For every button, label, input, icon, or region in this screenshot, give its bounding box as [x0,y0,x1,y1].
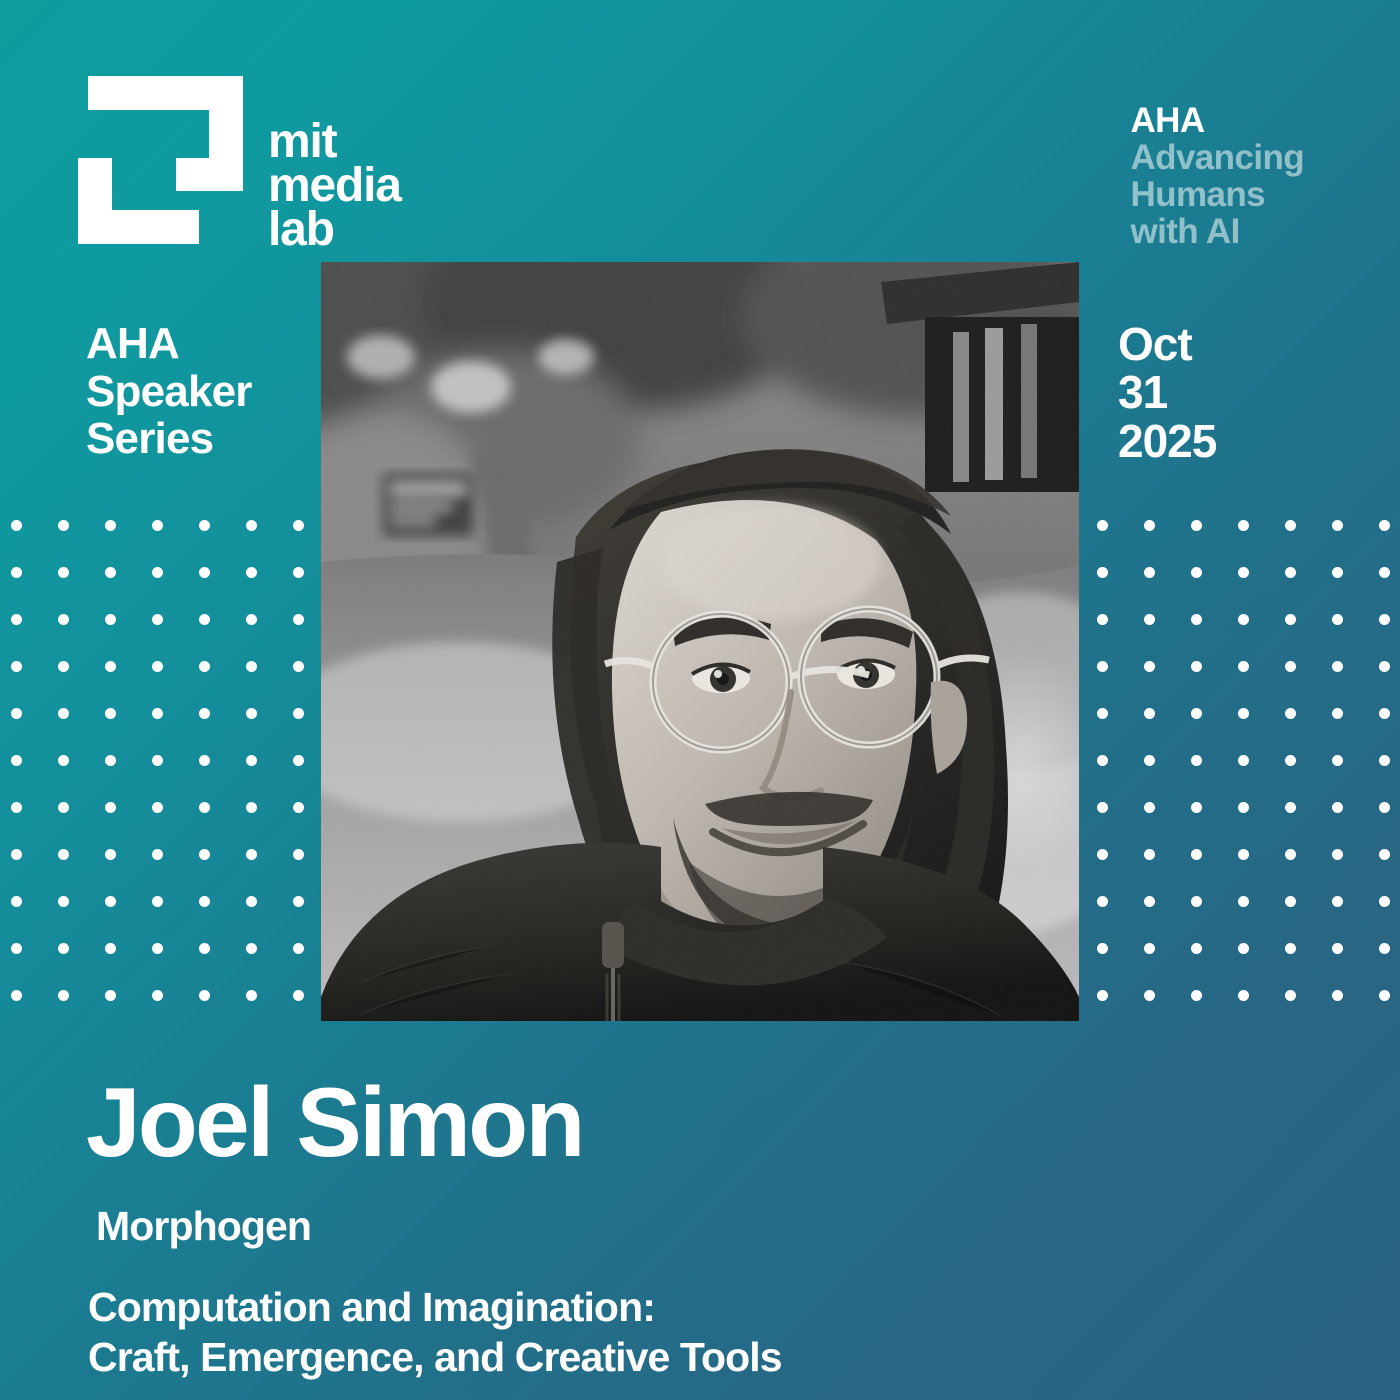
series-label-line-1: AHA [86,320,252,368]
series-label: AHA Speaker Series [86,320,252,463]
talk-title: Computation and Imagination: Craft, Emer… [88,1282,782,1382]
event-date-month: Oct [1118,320,1216,368]
talk-title-line-1: Computation and Imagination: [88,1282,782,1332]
dot-pattern-right [1097,520,1400,1037]
mit-media-lab-logo-mark-icon [78,72,240,244]
wordmark-line-mit: mit [268,120,401,164]
aha-expansion-line-1: Advancing [1130,139,1304,176]
dot-pattern-left [11,520,340,1037]
aha-expansion-line-3: with AI [1130,213,1304,250]
series-label-line-3: Series [86,415,252,463]
mit-media-lab-wordmark: mit media lab [268,72,401,252]
aha-expansion-line-2: Humans [1130,176,1304,213]
speaker-affiliation: Morphogen [96,1206,311,1247]
aha-acronym: AHA [1130,102,1304,139]
wordmark-line-lab: lab [268,208,401,252]
event-date: Oct 31 2025 [1118,320,1216,465]
aha-brand-lockup: AHA Advancing Humans with AI [1130,102,1304,250]
series-label-line-2: Speaker [86,368,252,416]
talk-title-line-2: Craft, Emergence, and Creative Tools [88,1332,782,1382]
event-poster: mit media lab AHA Advancing Humans with … [0,0,1400,1400]
speaker-portrait-photo [321,262,1079,1021]
mit-media-lab-logo: mit media lab [78,72,418,247]
event-date-year: 2025 [1118,417,1216,465]
speaker-name: Joel Simon [86,1073,583,1171]
event-date-day: 31 [1118,368,1216,416]
wordmark-line-media: media [268,164,401,208]
